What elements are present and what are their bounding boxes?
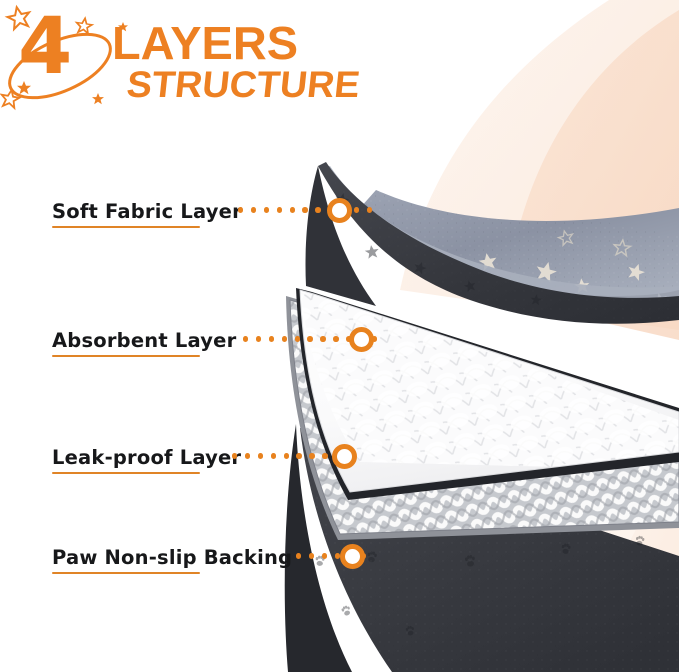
callout-label-leak-proof-layer: Leak-proof Layer <box>52 446 241 469</box>
header-title-block: 4 LAYERS STRUCTURE <box>0 0 420 125</box>
marker-paw-non-slip-backing <box>340 544 365 569</box>
callout-label-soft-fabric-layer: Soft Fabric Layer <box>52 200 242 223</box>
marker-soft-fabric-layer <box>327 198 352 223</box>
callout-label-paw-non-slip-backing: Paw Non-slip Backing <box>52 546 292 569</box>
title-layers: LAYERS <box>112 20 298 66</box>
callout-leak-proof-layer: Leak-proof Layer <box>52 442 241 472</box>
marker-leak-proof-layer <box>332 444 357 469</box>
infographic-canvas: 4 LAYERS STRUCTURE Soft Fabric Layer Abs… <box>0 0 679 672</box>
callout-paw-non-slip-backing: Paw Non-slip Backing <box>52 542 292 572</box>
callout-label-absorbent-layer: Absorbent Layer <box>52 329 236 352</box>
leader-line-soft-fabric-layer <box>238 205 372 215</box>
callout-soft-fabric-layer: Soft Fabric Layer <box>52 196 242 226</box>
callout-absorbent-layer: Absorbent Layer <box>52 325 236 355</box>
title-structure: STRUCTURE <box>125 66 362 103</box>
marker-absorbent-layer <box>349 327 374 352</box>
